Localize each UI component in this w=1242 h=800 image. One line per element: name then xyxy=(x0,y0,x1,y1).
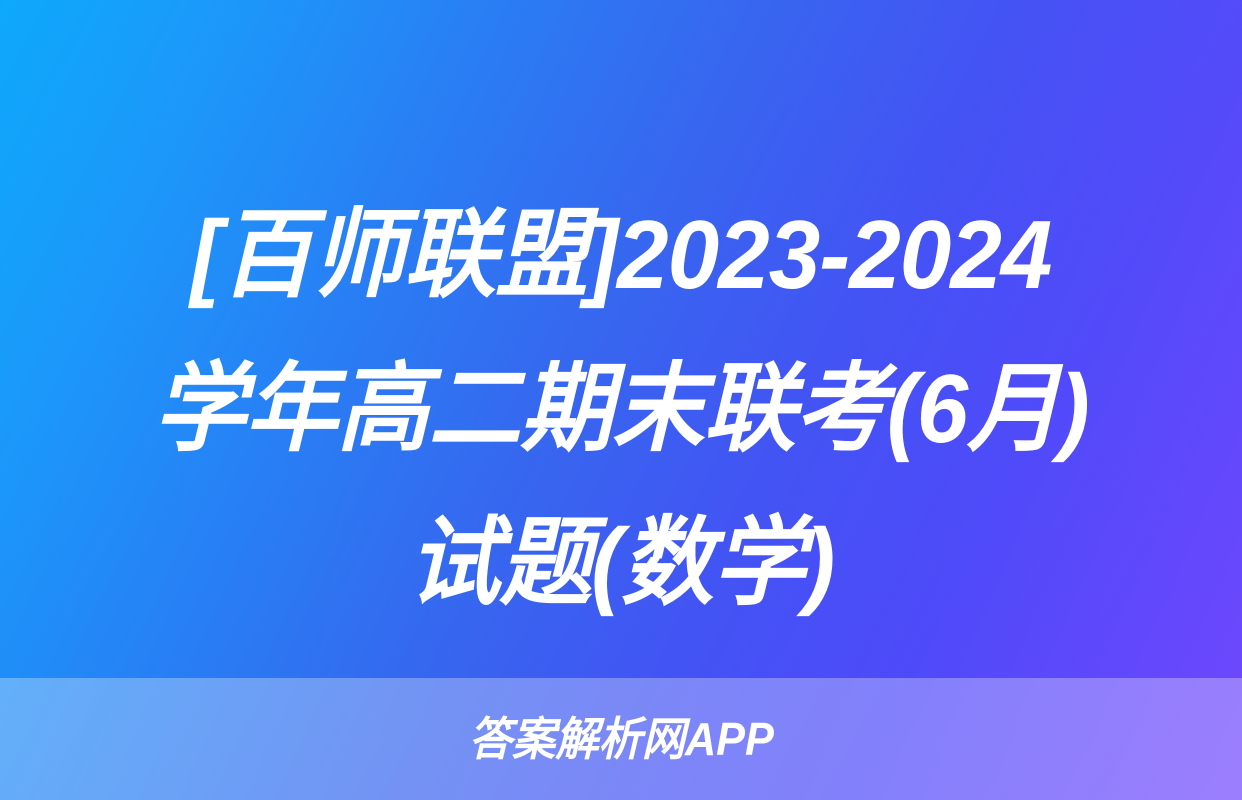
title-line-1: [百师联盟]2023-2024 xyxy=(28,178,1214,332)
footer-band: 答案解析网APP xyxy=(0,678,1242,800)
app-watermark: 答案解析网APP xyxy=(468,716,773,762)
title-line-3: 试题(数学) xyxy=(28,486,1214,640)
title-block: [百师联盟]2023-2024 学年高二期末联考(6月) 试题(数学) xyxy=(0,178,1242,640)
poster-canvas: [百师联盟]2023-2024 学年高二期末联考(6月) 试题(数学) 答案解析… xyxy=(0,0,1242,800)
title-line-2: 学年高二期末联考(6月) xyxy=(28,332,1214,486)
